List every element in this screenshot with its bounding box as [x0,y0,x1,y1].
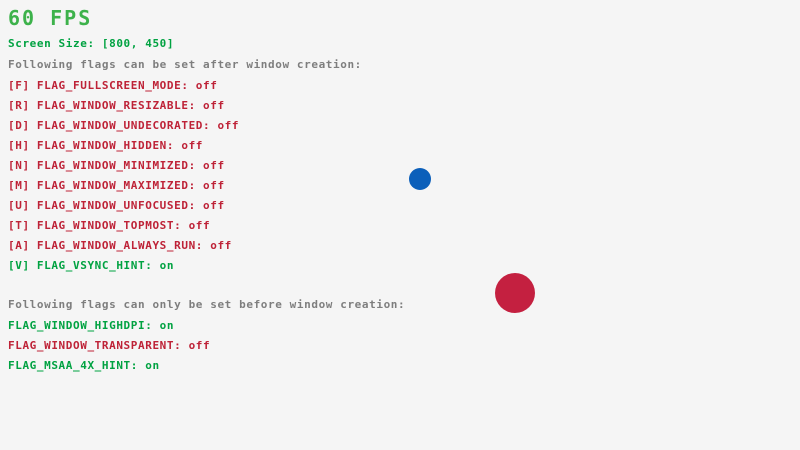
fps-counter: 60 FPS [8,8,92,28]
flag-row-vsync-hint[interactable]: [V] FLAG_VSYNC_HINT: on [8,260,174,271]
blue-circle-shape [409,168,431,190]
screen-size-label: Screen Size: [800, 450] [8,38,174,49]
flag-row-window-maximized[interactable]: [M] FLAG_WINDOW_MAXIMIZED: off [8,180,225,191]
flag-row-window-highdpi: FLAG_WINDOW_HIGHDPI: on [8,320,174,331]
flag-row-window-hidden[interactable]: [H] FLAG_WINDOW_HIDDEN: off [8,140,203,151]
section-header-after-creation: Following flags can be set after window … [8,59,362,70]
section-header-before-creation: Following flags can only be set before w… [8,299,405,310]
red-circle-shape [495,273,535,313]
flag-row-window-minimized[interactable]: [N] FLAG_WINDOW_MINIMIZED: off [8,160,225,171]
flag-row-window-transparent: FLAG_WINDOW_TRANSPARENT: off [8,340,210,351]
flag-row-window-unfocused[interactable]: [U] FLAG_WINDOW_UNFOCUSED: off [8,200,225,211]
flag-row-window-always-run[interactable]: [A] FLAG_WINDOW_ALWAYS_RUN: off [8,240,232,251]
flag-row-msaa-4x-hint: FLAG_MSAA_4X_HINT: on [8,360,160,371]
flag-row-window-resizable[interactable]: [R] FLAG_WINDOW_RESIZABLE: off [8,100,225,111]
raylib-window-flags-demo[interactable]: 60 FPS Screen Size: [800, 450] Following… [0,0,800,450]
flag-row-window-undecorated[interactable]: [D] FLAG_WINDOW_UNDECORATED: off [8,120,239,131]
flag-row-fullscreen-mode[interactable]: [F] FLAG_FULLSCREEN_MODE: off [8,80,217,91]
flag-row-window-topmost[interactable]: [T] FLAG_WINDOW_TOPMOST: off [8,220,210,231]
